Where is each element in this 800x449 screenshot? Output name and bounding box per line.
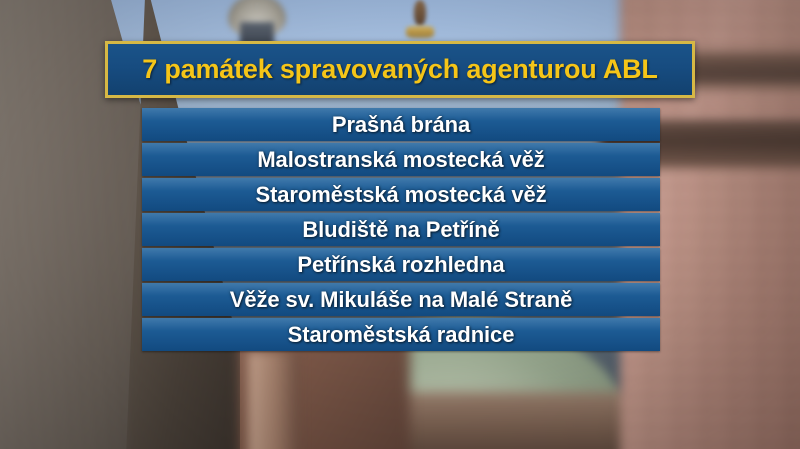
list-item: Věže sv. Mikuláše na Malé Straně [142,283,660,316]
church-spire-right-icon [414,0,426,26]
list-item-label: Staroměstská radnice [288,322,515,348]
church-spire-right-base [406,26,434,38]
list-item-label: Malostranská mostecká věž [257,147,544,173]
list-item-label: Věže sv. Mikuláše na Malé Straně [230,287,572,313]
mid-facade-pillar [248,352,300,449]
page-title: 7 památek spravovaných agenturou ABL [142,54,657,85]
title-banner: 7 památek spravovaných agenturou ABL [105,41,695,98]
list-item: Prašná brána [142,108,660,141]
list-item: Malostranská mostecká věž [142,143,660,176]
news-graphic-screenshot: 7 památek spravovaných agenturou ABL Pra… [0,0,800,449]
list-item-label: Bludiště na Petříně [302,217,499,243]
list-item-label: Petřínská rozhledna [297,252,504,278]
monument-list: Prašná brána Malostranská mostecká věž S… [142,108,660,351]
list-item-label: Staroměstská mostecká věž [256,182,547,208]
list-item: Staroměstská mostecká věž [142,178,660,211]
list-item-label: Prašná brána [332,112,470,138]
list-item: Bludiště na Petříně [142,213,660,246]
list-item: Staroměstská radnice [142,318,660,351]
list-item: Petřínská rozhledna [142,248,660,281]
